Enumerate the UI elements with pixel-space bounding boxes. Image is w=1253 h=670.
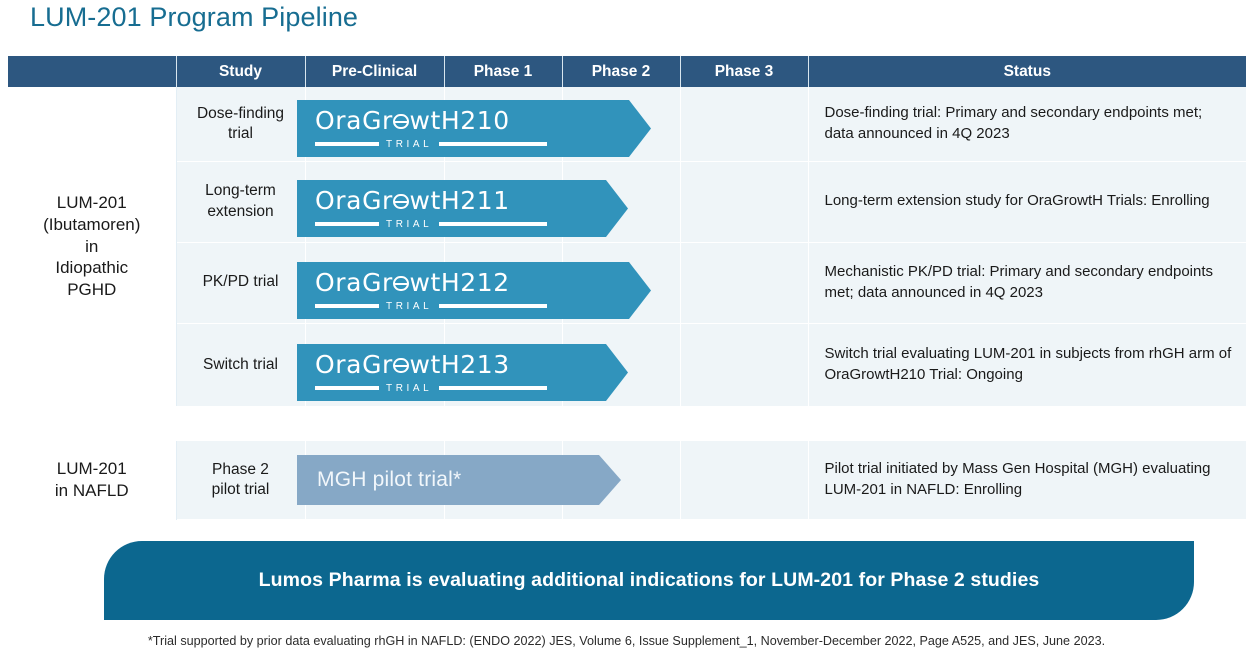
rule-left <box>315 304 379 308</box>
logo-prefix: OraGr <box>315 268 393 297</box>
trial-bar-oragrowth213[interactable]: OraGrwtH213 TRIAL <box>297 344 628 401</box>
indication-line: in <box>85 237 98 256</box>
study-line: Phase 2 <box>212 461 269 478</box>
trial-bar-sublabel: TRIAL <box>315 301 547 312</box>
status-text-mgh-pilot: Pilot trial initiated by Mass Gen Hospit… <box>808 441 1246 519</box>
table-row: Long-term extension Long-term extension … <box>8 161 1246 242</box>
oragrowth-o-icon <box>393 358 409 374</box>
column-header-study: Study <box>176 56 305 87</box>
trial-bar-sublabel: TRIAL <box>315 383 547 394</box>
rule-right <box>439 222 547 226</box>
summary-banner-text: Lumos Pharma is evaluating additional in… <box>259 569 1040 592</box>
rule-right <box>439 386 547 390</box>
phase-cell-phase3 <box>680 323 808 406</box>
phase-cell-phase3 <box>680 242 808 323</box>
study-label-pkpd: PK/PD trial <box>176 242 305 323</box>
trial-bar-oragrowth212[interactable]: OraGrwtH212 TRIAL <box>297 262 651 319</box>
column-header-preclinical: Pre-Clinical <box>305 56 444 87</box>
column-header-phase1: Phase 1 <box>444 56 562 87</box>
indication-line: (Ibutamoren) <box>43 215 140 234</box>
logo-suffix: wtH210 <box>409 106 509 135</box>
trial-word: TRIAL <box>386 219 432 230</box>
status-text-oragrowth212: Mechanistic PK/PD trial: Primary and sec… <box>808 242 1246 323</box>
footnote: *Trial supported by prior data evaluatin… <box>0 634 1253 648</box>
study-line: Long-term <box>205 182 276 199</box>
table-row: LUM-201 in NAFLD Phase 2 pilot trial Pil… <box>8 441 1246 519</box>
trial-word: TRIAL <box>386 139 432 150</box>
logo-prefix: OraGr <box>315 106 393 135</box>
status-text-oragrowth213: Switch trial evaluating LUM-201 in subje… <box>808 323 1246 406</box>
logo-suffix: wtH211 <box>409 186 509 215</box>
trial-word: TRIAL <box>386 383 432 394</box>
column-header-phase2: Phase 2 <box>562 56 680 87</box>
column-header-indication <box>8 56 176 87</box>
study-label-long-term-extension: Long-term extension <box>176 161 305 242</box>
study-line: Dose-finding <box>197 105 284 122</box>
logo-prefix: OraGr <box>315 186 393 215</box>
phase-cell-phase3 <box>680 441 808 519</box>
trial-bar-sublabel: TRIAL <box>315 139 547 150</box>
study-label-phase2-pilot: Phase 2 pilot trial <box>176 441 305 519</box>
rule-right <box>439 304 547 308</box>
trial-bar-mgh-pilot[interactable]: MGH pilot trial* <box>297 455 621 505</box>
oragrowth-o-icon <box>393 114 409 130</box>
indication-line: PGHD <box>67 280 116 299</box>
rule-left <box>315 386 379 390</box>
study-line: pilot trial <box>212 481 270 498</box>
rule-left <box>315 142 379 146</box>
table-row: Switch trial Switch trial evaluating LUM… <box>8 323 1246 406</box>
pilot-bar-label: MGH pilot trial* <box>317 468 621 492</box>
oragrowth-o-icon <box>393 194 409 210</box>
trial-bar-logo-oragrowth211: OraGrwtH211 <box>315 188 628 213</box>
indication-line: LUM-201 <box>57 459 127 478</box>
oragrowth-o-icon <box>393 276 409 292</box>
trial-bar-sublabel: TRIAL <box>315 219 547 230</box>
trial-bar-logo-oragrowth210: OraGrwtH210 <box>315 108 651 133</box>
trial-bar-oragrowth210[interactable]: OraGrwtH210 TRIAL <box>297 100 651 157</box>
trial-bar-logo-oragrowth212: OraGrwtH212 <box>315 270 651 295</box>
logo-suffix: wtH213 <box>409 350 509 379</box>
status-text-oragrowth211: Long-term extension study for OraGrowtH … <box>808 161 1246 242</box>
summary-banner: Lumos Pharma is evaluating additional in… <box>104 541 1194 620</box>
trial-bar-logo-oragrowth213: OraGrwtH213 <box>315 352 628 377</box>
study-line: trial <box>228 125 253 142</box>
table-header-row: Study Pre-Clinical Phase 1 Phase 2 Phase… <box>8 56 1246 87</box>
rule-left <box>315 222 379 226</box>
column-header-status: Status <box>808 56 1246 87</box>
study-line: Switch trial <box>203 356 278 373</box>
indication-line: Idiopathic <box>55 258 128 277</box>
rule-right <box>439 142 547 146</box>
indication-line: LUM-201 <box>57 193 127 212</box>
phase-cell-phase3 <box>680 87 808 161</box>
nafld-pipeline-table: LUM-201 in NAFLD Phase 2 pilot trial Pil… <box>8 441 1246 520</box>
logo-prefix: OraGr <box>315 350 393 379</box>
study-line: PK/PD trial <box>203 273 279 290</box>
indication-label-nafld: LUM-201 in NAFLD <box>8 441 176 519</box>
page-title: LUM-201 Program Pipeline <box>30 2 358 33</box>
indication-label-pghd: LUM-201 (Ibutamoren) in Idiopathic PGHD <box>8 87 176 406</box>
phase-cell-phase3 <box>680 161 808 242</box>
study-line: extension <box>207 203 273 220</box>
study-label-switch: Switch trial <box>176 323 305 406</box>
trial-bar-oragrowth211[interactable]: OraGrwtH211 TRIAL <box>297 180 628 237</box>
status-text-oragrowth210: Dose-finding trial: Primary and secondar… <box>808 87 1246 161</box>
study-label-dose-finding: Dose-finding trial <box>176 87 305 161</box>
column-header-phase3: Phase 3 <box>680 56 808 87</box>
trial-word: TRIAL <box>386 301 432 312</box>
indication-line: in NAFLD <box>55 481 129 500</box>
logo-suffix: wtH212 <box>409 268 509 297</box>
